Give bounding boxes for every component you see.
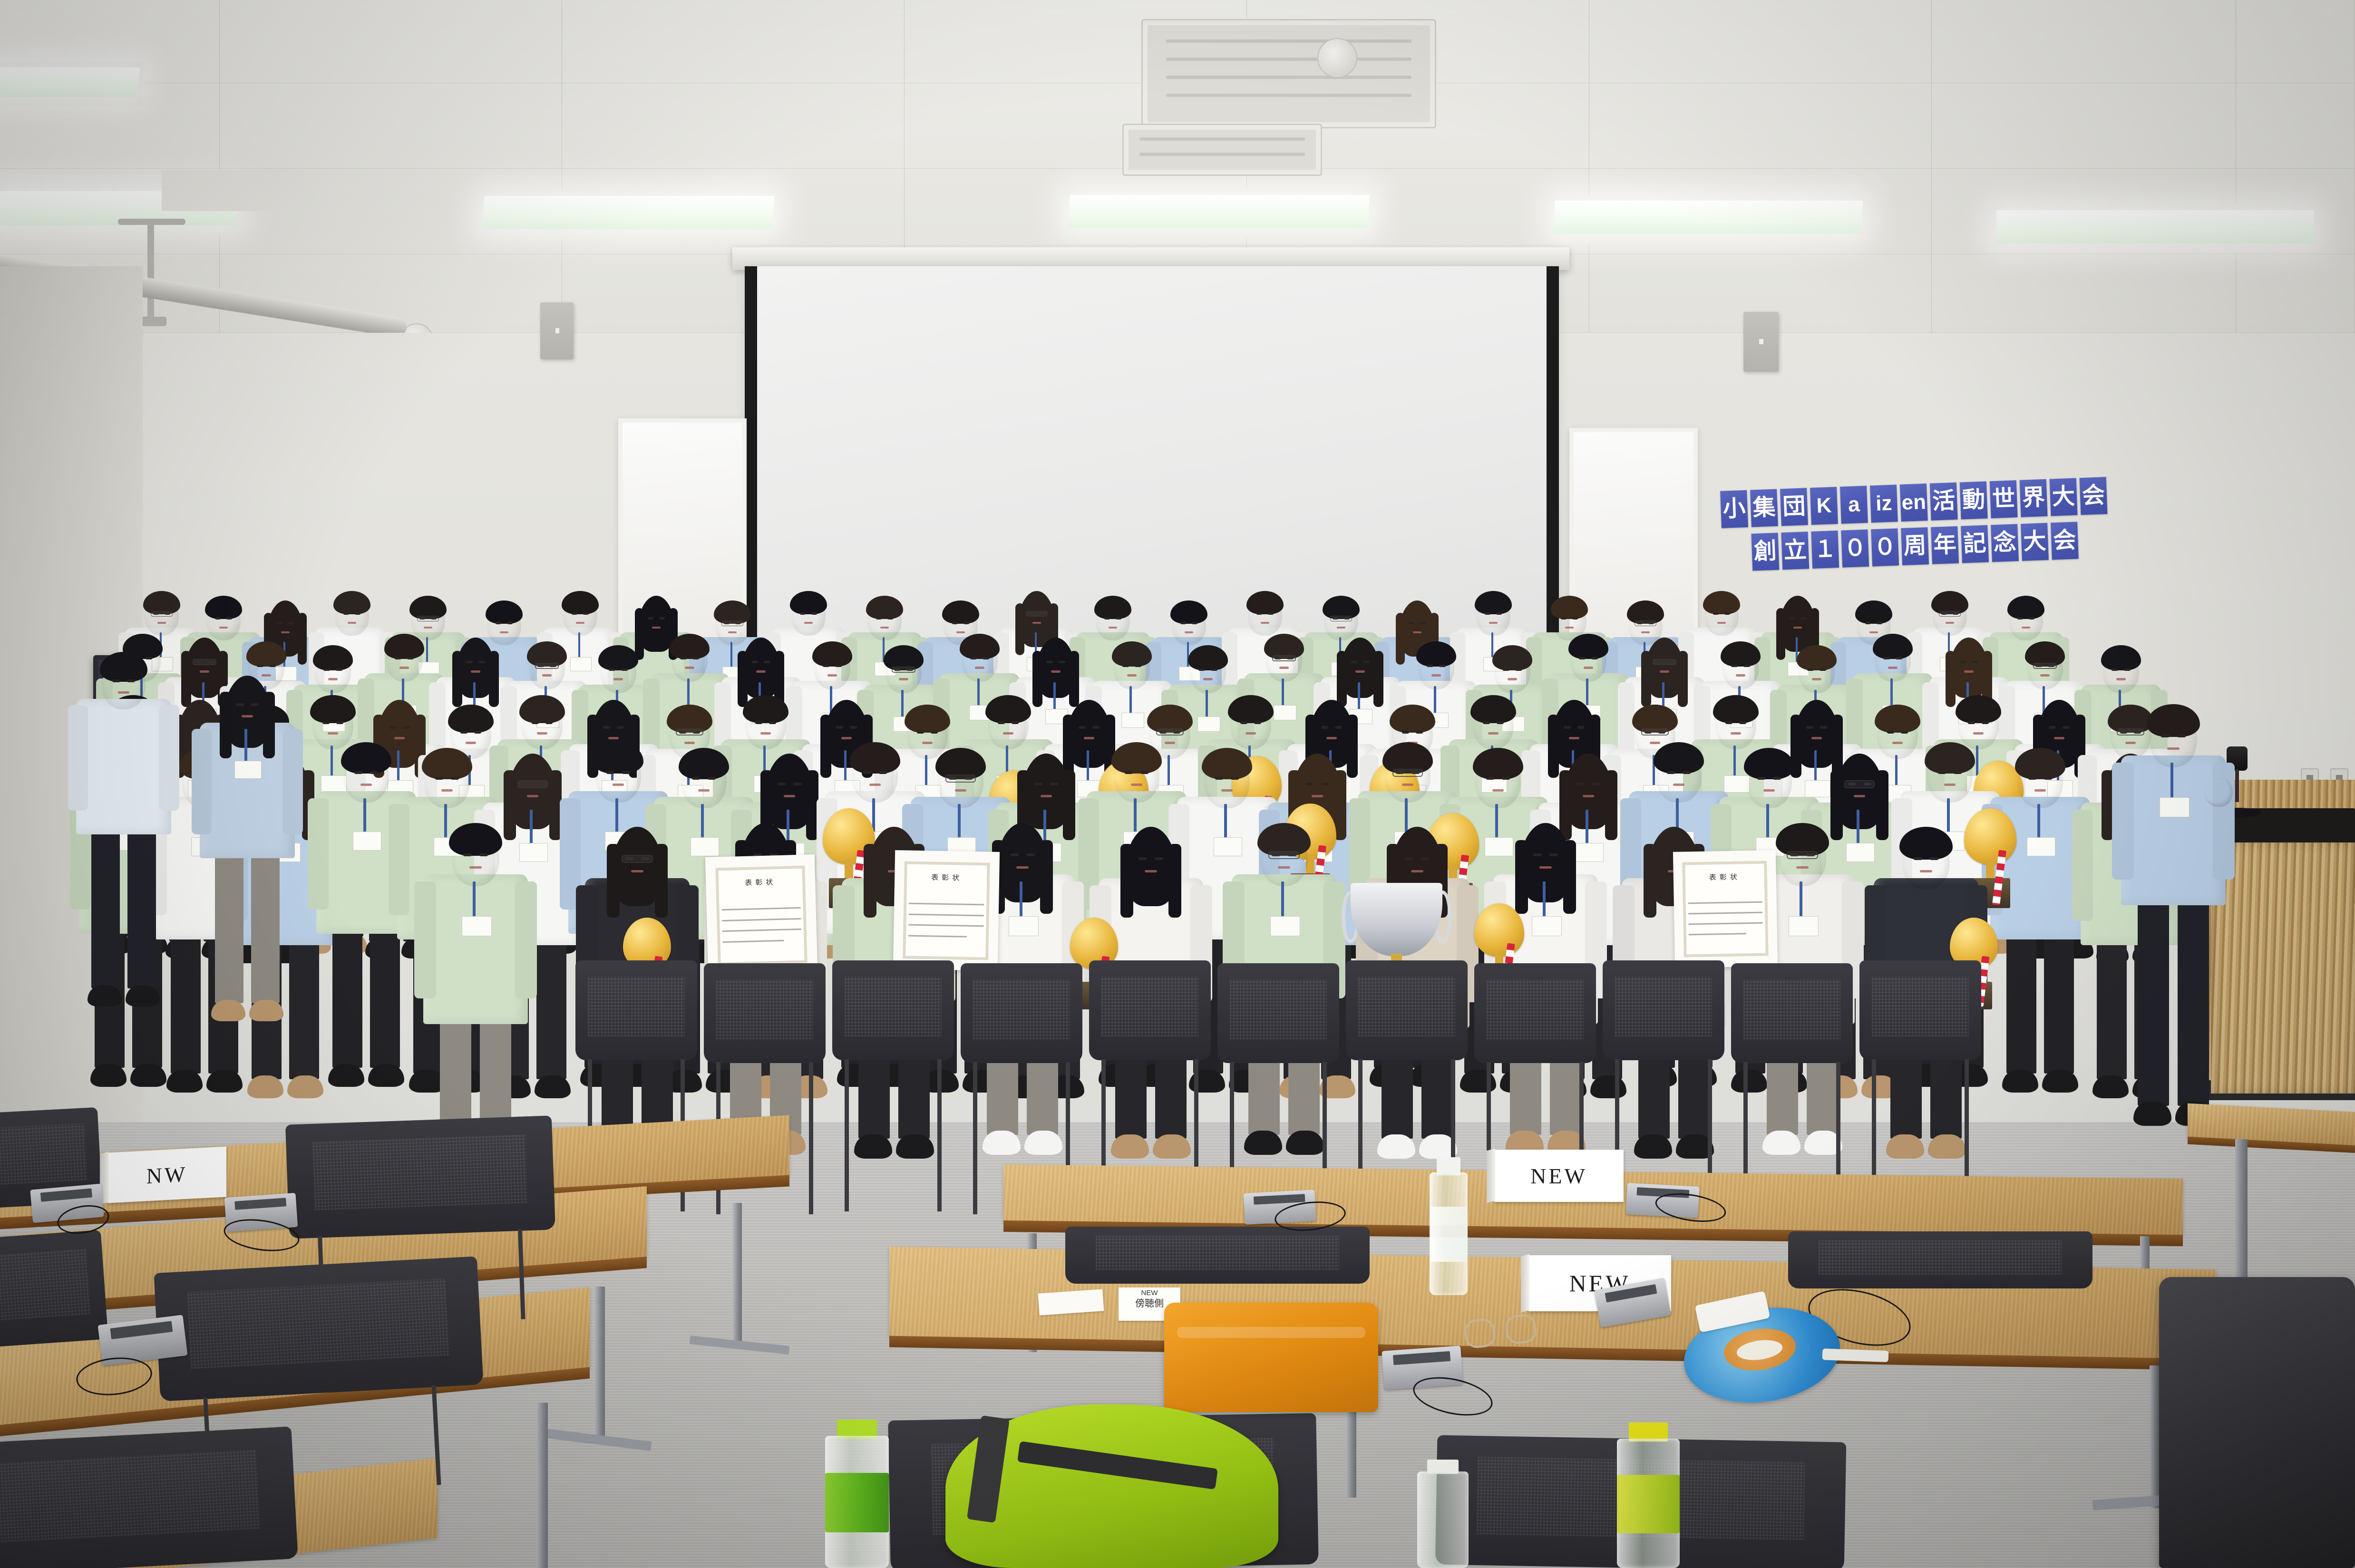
orange-pouch[interactable]	[1164, 1303, 1378, 1412]
projector-screen-hanger	[118, 219, 185, 225]
person-eye	[1034, 783, 1042, 785]
name-badge	[1724, 775, 1750, 793]
person-eye	[621, 668, 628, 671]
lanyard	[1168, 755, 1170, 787]
person-mouth	[760, 732, 771, 735]
person-eye	[1959, 661, 1966, 663]
person-hair	[1347, 715, 1358, 778]
person-mouth	[1185, 631, 1193, 633]
person-eye	[952, 622, 958, 624]
eyeglasses-icon	[517, 780, 547, 788]
person-mouth	[1084, 737, 1094, 739]
mesh-back-stacking-chair[interactable]	[0, 1426, 298, 1568]
eyeglasses-icon	[1268, 851, 1300, 859]
person-eye	[1198, 668, 1205, 671]
person-eye	[1820, 726, 1828, 729]
person-mouth	[1278, 866, 1290, 869]
person-eye	[603, 726, 611, 729]
person-eye	[2029, 617, 2035, 619]
table-leg	[594, 1287, 605, 1443]
person-eye	[836, 726, 844, 729]
person-hair	[504, 770, 516, 841]
seated-row-chair[interactable]	[1859, 960, 1981, 1060]
person-mouth	[1489, 622, 1498, 624]
shoe	[166, 1070, 203, 1093]
person-hair	[1337, 651, 1347, 707]
person-eye	[1877, 622, 1883, 624]
person-mouth	[1203, 678, 1213, 680]
green-tea-bottle[interactable]	[1611, 1423, 1685, 1568]
person-eye	[1683, 771, 1691, 774]
person-mouth	[1488, 732, 1499, 735]
person-eye	[1046, 661, 1053, 663]
mesh-back-stacking-chair[interactable]	[0, 1230, 108, 1350]
banner-cell: 念	[1991, 524, 2019, 562]
lanyard	[925, 755, 927, 787]
person-eye	[963, 622, 970, 624]
eyeglasses-icon	[535, 663, 559, 669]
banner-cell: K	[1810, 487, 1838, 525]
lanyard	[1800, 881, 1802, 919]
lanyard	[426, 637, 428, 663]
person-mouth	[1660, 670, 1669, 672]
person-arm	[159, 705, 179, 811]
banner-cell: 周	[1901, 527, 1929, 565]
person-eye	[2161, 735, 2170, 738]
person-mouth	[956, 631, 965, 633]
person-eye	[1092, 726, 1100, 729]
person-mouth	[880, 627, 889, 629]
person-eye	[1135, 665, 1141, 667]
person-hair	[181, 651, 191, 707]
person-eye	[1012, 721, 1019, 724]
person-hair	[738, 651, 748, 707]
person-mouth	[1032, 622, 1041, 624]
person-eye	[1887, 731, 1895, 734]
person-hair	[635, 608, 644, 660]
banner-cell: 会	[2080, 477, 2108, 515]
shoe	[328, 1064, 364, 1087]
person-torso	[423, 874, 528, 1024]
banner-cell: a	[1840, 486, 1868, 524]
mesh-back-stacking-chair[interactable]	[285, 1115, 555, 1239]
person-eye	[466, 661, 473, 663]
chair-leg	[809, 1062, 813, 1214]
person-eye	[1807, 668, 1814, 671]
name-badge	[462, 916, 492, 936]
person-mouth	[1869, 631, 1878, 633]
person-eye	[983, 657, 989, 659]
chair-back	[961, 963, 1082, 1063]
lanyard	[1491, 632, 1493, 658]
ceiling-light-panel	[482, 196, 775, 229]
lanyard	[1766, 804, 1769, 839]
person-eye	[395, 657, 401, 659]
person-mouth	[1337, 627, 1345, 629]
person-mouth	[399, 667, 409, 668]
person-eye	[1515, 668, 1522, 671]
placard-text: NW	[146, 1161, 188, 1189]
person-mouth	[1127, 674, 1137, 676]
person-legs	[332, 925, 362, 1068]
person-eye	[336, 721, 344, 724]
name-badge	[321, 775, 347, 793]
banner-cell: 立	[1781, 532, 1809, 570]
name-badge	[1846, 843, 1875, 862]
person-eye	[2049, 726, 2056, 729]
person-hair	[1876, 770, 1888, 841]
person-eye	[1305, 783, 1314, 785]
shoe	[1886, 1134, 1924, 1158]
person-legs	[2044, 931, 2074, 1074]
lanyard	[363, 798, 366, 833]
lanyard	[1586, 678, 1588, 707]
eyeglasses-icon	[1026, 611, 1048, 617]
water-bottle[interactable]	[1412, 1460, 1473, 1568]
person-eye	[343, 612, 350, 615]
person-eye	[1215, 777, 1223, 780]
person-eye	[1079, 726, 1086, 729]
trophy-bowl	[1964, 808, 2016, 864]
person-eye	[764, 661, 770, 663]
shoe	[90, 1064, 127, 1087]
person-legs	[251, 850, 280, 1003]
lanyard	[331, 745, 333, 777]
person-eye	[355, 612, 361, 615]
person-mouth	[869, 784, 881, 786]
seated-row-chair[interactable]	[1603, 960, 1724, 1060]
shoe	[1153, 1134, 1190, 1158]
chair-back	[1731, 963, 1853, 1063]
person-hair	[1063, 770, 1075, 841]
seated-row-chair[interactable]	[961, 963, 1082, 1063]
person-eye	[1743, 665, 1750, 667]
person-eye	[2044, 777, 2052, 780]
person-eye	[2177, 735, 2186, 738]
chair-back	[704, 963, 826, 1063]
person-eye	[1577, 726, 1585, 729]
person-mouth	[1312, 795, 1323, 797]
person-eye	[1739, 721, 1747, 724]
mesh-back-stacking-chair[interactable]	[1065, 1227, 1370, 1284]
name-badge	[1009, 916, 1039, 936]
seated-row-chair[interactable]	[1731, 963, 1853, 1063]
person-eye	[2028, 777, 2036, 780]
ceiling-light-panel	[1996, 210, 2314, 243]
person-eye	[1972, 661, 1978, 663]
person-eye	[708, 777, 716, 780]
person-hair	[489, 651, 499, 707]
person-hair	[1830, 770, 1843, 841]
chair-leg	[973, 1062, 977, 1214]
person-eye	[1139, 857, 1147, 861]
person-mouth	[1003, 732, 1013, 735]
person-eye	[1010, 853, 1019, 857]
lanyard	[687, 678, 690, 707]
person-mouth	[2125, 742, 2136, 744]
person-mouth	[1145, 870, 1157, 873]
person-eye	[617, 726, 624, 729]
lanyard	[1053, 682, 1056, 710]
person-eye	[1533, 853, 1542, 857]
banner-cell: en	[1900, 484, 1928, 522]
lanyard	[397, 750, 399, 782]
paper-sheet[interactable]	[1038, 1289, 1104, 1315]
person-eye	[269, 665, 276, 667]
lanyard	[1134, 798, 1137, 833]
person-hair	[1515, 840, 1528, 914]
water-bottle[interactable]	[1426, 1157, 1471, 1295]
eyeglasses-icon	[622, 855, 653, 863]
shoe	[126, 985, 160, 1007]
person-hair	[1776, 608, 1785, 660]
person-mouth	[955, 789, 967, 792]
lanyard	[1020, 881, 1022, 919]
eyeglasses-icon	[1635, 620, 1657, 626]
person-eye	[876, 617, 882, 619]
eyeglasses-icon	[2117, 728, 2144, 736]
person-arm	[389, 804, 409, 915]
lanyard	[1947, 798, 1950, 833]
person-eye	[622, 771, 630, 774]
person-mouth	[527, 795, 539, 797]
person-eye	[1731, 665, 1738, 667]
award-certificate: 表彰状	[893, 850, 1000, 971]
person-eye	[1757, 777, 1765, 780]
person-mouth	[756, 670, 766, 672]
person-torso	[2121, 755, 2226, 905]
person-mouth	[1355, 670, 1365, 672]
person-mouth	[242, 715, 253, 717]
name-badge	[1789, 916, 1819, 936]
table-leg	[732, 1203, 742, 1345]
person-mouth	[2034, 789, 2046, 792]
person-eye	[1579, 657, 1586, 659]
person-eye	[1416, 731, 1423, 734]
person-eye	[917, 731, 924, 734]
person-eye	[863, 771, 871, 774]
seated-row-chair[interactable]	[704, 963, 826, 1063]
green-backpack[interactable]	[945, 1404, 1278, 1568]
person-eye	[1125, 771, 1133, 774]
audience-card-line1: NEW	[1119, 1289, 1180, 1298]
person-arm	[515, 881, 537, 998]
person-eye	[1789, 617, 1795, 619]
person-mouth	[1812, 678, 1821, 680]
person-mouth	[1569, 737, 1579, 739]
name-placard-new-back[interactable]: NEW	[1494, 1150, 1624, 1202]
lanyard	[444, 804, 447, 839]
person-mouth	[1673, 784, 1685, 786]
person-mouth	[1413, 631, 1421, 633]
person-mouth	[542, 674, 552, 676]
person-mouth	[1584, 667, 1593, 668]
person-hair	[1120, 844, 1133, 918]
shoe	[247, 1075, 283, 1098]
seated-row-chair[interactable]	[575, 960, 697, 1060]
placard-text: NEW	[1530, 1163, 1587, 1189]
person-eye	[389, 726, 397, 729]
person-mouth	[200, 670, 209, 672]
green-tea-bottle[interactable]	[819, 1420, 895, 1568]
mesh-back-stacking-chair[interactable]	[1788, 1231, 2092, 1288]
shoe	[211, 1000, 245, 1022]
person-eye	[2063, 726, 2070, 729]
lanyard	[701, 804, 704, 839]
person-hair	[1678, 651, 1688, 707]
lanyard	[844, 750, 847, 782]
camera-bag[interactable]	[2159, 1277, 2355, 1568]
lanyard	[1087, 750, 1089, 782]
seated-row-chair[interactable]	[1474, 963, 1596, 1063]
person-eye	[189, 726, 197, 729]
person-eye	[1439, 665, 1446, 667]
lanyard	[1043, 810, 1046, 845]
person-eye	[823, 665, 829, 667]
banner-cell: 大	[2021, 523, 2049, 561]
name-badge	[519, 843, 548, 862]
person-mouth	[1793, 627, 1802, 629]
person-legs	[2178, 896, 2209, 1106]
lanyard	[901, 690, 904, 718]
person-hair	[820, 715, 831, 778]
person-hair	[1396, 613, 1405, 665]
award-certificate: 表彰状	[1673, 850, 1778, 968]
person-eye	[609, 668, 615, 671]
person-eye	[850, 726, 857, 729]
person-hair	[220, 692, 232, 758]
shoe	[1634, 1134, 1672, 1158]
person-eye	[1496, 612, 1502, 615]
person-eye	[931, 731, 938, 734]
name-badge	[1575, 843, 1604, 862]
person-hair	[1548, 715, 1559, 778]
eyeglasses-icon	[892, 667, 916, 673]
person-eye	[659, 617, 665, 619]
person-eye	[1954, 771, 1962, 774]
person-eye	[1104, 617, 1110, 619]
person-eye	[1485, 612, 1491, 615]
person-eye	[751, 661, 758, 663]
person-eye	[1268, 612, 1274, 615]
lanyard	[1405, 798, 1408, 833]
person-eye	[507, 622, 513, 624]
shoe	[249, 1000, 283, 1022]
seated-row-chair[interactable]	[1217, 963, 1339, 1063]
person-mouth	[360, 784, 372, 786]
person-mouth	[537, 732, 547, 735]
shoe	[130, 1064, 166, 1087]
person-eye	[793, 783, 801, 785]
mesh-back-stacking-chair[interactable]	[154, 1256, 483, 1401]
chair-back	[1217, 963, 1339, 1063]
wall-speaker	[1743, 312, 1779, 372]
person-mouth	[441, 789, 453, 792]
person-hair	[1040, 840, 1053, 914]
person-eye	[1254, 721, 1262, 724]
name-badge	[1214, 837, 1242, 856]
person-mouth	[1221, 789, 1233, 792]
seated-row-chair[interactable]	[1346, 960, 1468, 1060]
person-mouth	[1731, 732, 1741, 735]
person-mouth	[157, 622, 166, 624]
shoe	[1928, 1134, 1966, 1158]
air-conditioning-vent	[1141, 19, 1436, 128]
trophy-stem	[845, 860, 853, 880]
name-badge	[2027, 837, 2055, 856]
person-mouth	[1973, 732, 1984, 735]
banner-cell: １	[1811, 531, 1839, 569]
seated-row-chair[interactable]	[1089, 960, 1211, 1060]
lanyard	[1495, 804, 1498, 839]
lanyard	[1224, 804, 1227, 839]
person-mouth	[1165, 742, 1175, 744]
person-legs	[171, 931, 201, 1074]
person-mouth	[899, 678, 908, 680]
eyeglasses-icon	[1272, 655, 1296, 661]
name-placard-nw[interactable]: NW	[107, 1146, 226, 1203]
person-eye	[583, 612, 589, 615]
shoe	[2092, 1075, 2129, 1098]
lanyard	[1282, 678, 1284, 707]
person-mouth	[219, 627, 228, 629]
person-eye	[1592, 783, 1600, 785]
lanyard	[244, 729, 247, 762]
eyeglasses-icon	[676, 728, 703, 736]
seated-row-chair[interactable]	[832, 960, 954, 1060]
eyeglasses-icon	[1653, 659, 1677, 665]
person-eye	[545, 721, 553, 724]
person-arm	[2112, 763, 2134, 880]
person-torso	[76, 699, 171, 834]
person-eye	[606, 771, 614, 774]
eyeglasses-icon	[151, 611, 173, 617]
person-eye	[1211, 668, 1217, 671]
event-banner: 小集団Kaizen活動世界大会 創立１００周年記念大会	[1720, 477, 2109, 572]
person-mouth	[1641, 631, 1650, 633]
person-eye	[1806, 726, 1814, 729]
banner-cell: 小	[1720, 490, 1748, 528]
banner-cell: 動	[1960, 481, 1988, 519]
person-mouth	[1854, 795, 1866, 797]
person-eye	[215, 617, 221, 619]
person-eye	[496, 622, 502, 624]
person-hair	[607, 844, 620, 918]
lanyard	[977, 678, 980, 707]
person-mouth	[1431, 674, 1441, 676]
person-eye	[1549, 853, 1558, 857]
person-eye	[1968, 721, 1975, 724]
person-eye	[1725, 721, 1733, 724]
ceiling-speaker	[1317, 38, 1357, 78]
person-mouth	[1717, 622, 1726, 624]
person-legs	[2138, 896, 2169, 1106]
person-eye	[1335, 726, 1343, 729]
person-eye	[1122, 665, 1129, 667]
person-mouth	[784, 795, 796, 797]
eyeglasses-icon	[1392, 769, 1422, 777]
person-mouth	[1326, 737, 1337, 739]
person-mouth	[1736, 674, 1745, 676]
lanyard	[1281, 881, 1284, 919]
person-mouth	[1041, 795, 1052, 797]
person-mouth	[1279, 667, 1289, 668]
person-eye	[1914, 857, 1922, 861]
person-eye	[1231, 777, 1239, 780]
person-legs	[127, 826, 156, 988]
banner-cell: ０	[1841, 530, 1869, 568]
eyeglasses-icon	[721, 620, 744, 626]
